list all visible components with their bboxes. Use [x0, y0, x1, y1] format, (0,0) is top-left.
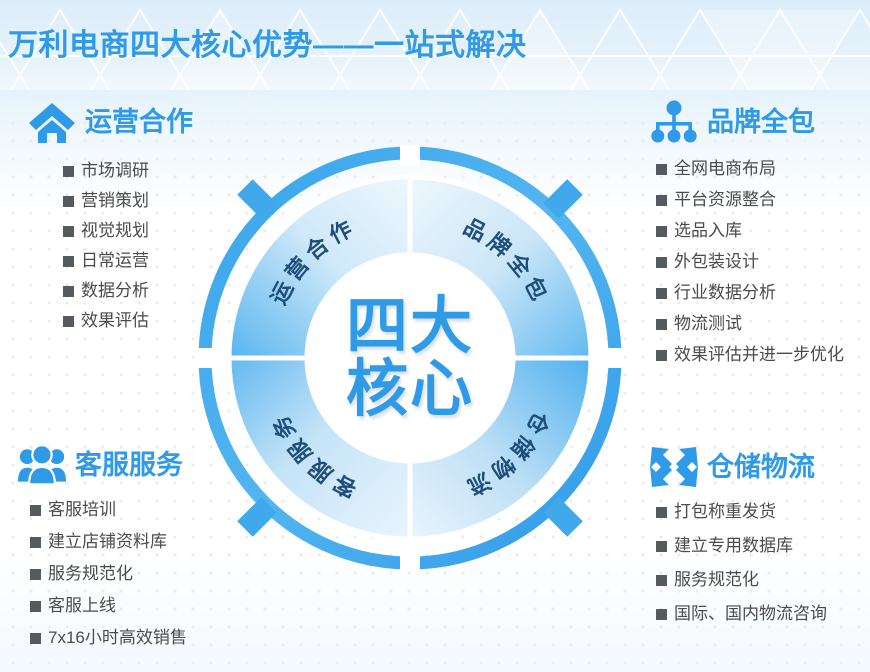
list-item-label: 日常运营 [81, 252, 149, 269]
bullet-icon [656, 164, 667, 175]
list-item-label: 数据分析 [81, 282, 149, 299]
core-donut-diagram: 运营合作 品牌全包 仓储物流 客服服务 四大 核心 [195, 143, 625, 573]
list-item: 物流测试 [656, 315, 844, 332]
quadrant-service-header: 客服服务 [18, 443, 187, 487]
people-group-icon [18, 443, 66, 487]
list-item-label: 国际、国内物流咨询 [674, 605, 827, 622]
org-chart-icon [650, 100, 698, 144]
list-item-label: 打包称重发货 [674, 503, 776, 520]
bullet-icon [63, 316, 74, 327]
quadrant-logistics-title: 仓储物流 [707, 454, 815, 481]
list-item: 平台资源整合 [656, 191, 844, 208]
infographic-canvas: 万利电商四大核心优势——一站式解决 [0, 0, 870, 672]
list-item-label: 市场调研 [81, 162, 149, 179]
list-item: 服务规范化 [30, 565, 187, 582]
bullet-icon [656, 350, 667, 361]
bullet-icon [656, 609, 667, 620]
list-item-label: 客服培训 [48, 501, 116, 518]
four-arrows-expand-icon [650, 445, 698, 489]
quadrant-operations-list: 市场调研 营销策划 视觉规划 日常运营 数据分析 效果评估 [63, 162, 193, 329]
list-item: 客服上线 [30, 597, 187, 614]
quadrant-service: 客服服务 客服培训 建立店铺资料库 服务规范化 客服上线 7x16小时高效销售 [18, 443, 187, 661]
quadrant-service-title: 客服服务 [75, 452, 183, 479]
list-item: 服务规范化 [656, 571, 827, 588]
list-item: 建立店铺资料库 [30, 533, 187, 550]
list-item-label: 全网电商布局 [674, 160, 776, 177]
quadrant-logistics-header: 仓储物流 [650, 445, 827, 489]
list-item: 日常运营 [63, 252, 193, 269]
bullet-icon [30, 505, 41, 516]
list-item: 效果评估并进一步优化 [656, 346, 844, 363]
bullet-icon [656, 575, 667, 586]
list-item: 7x16小时高效销售 [30, 629, 187, 646]
bullet-icon [656, 195, 667, 206]
list-item-label: 客服上线 [48, 597, 116, 614]
list-item: 国际、国内物流咨询 [656, 605, 827, 622]
list-item-label: 行业数据分析 [674, 284, 776, 301]
home-icon [28, 100, 76, 144]
quadrant-brand-title: 品牌全包 [707, 109, 815, 136]
list-item-label: 平台资源整合 [674, 191, 776, 208]
bullet-icon [656, 257, 667, 268]
quadrant-brand-list: 全网电商布局 平台资源整合 选品入库 外包装设计 行业数据分析 物流测试 效果评… [656, 160, 844, 363]
quadrant-operations-header: 运营合作 [28, 100, 193, 144]
list-item: 行业数据分析 [656, 284, 844, 301]
bullet-icon [63, 196, 74, 207]
list-item-label: 效果评估 [81, 312, 149, 329]
quadrant-logistics: 仓储物流 打包称重发货 建立专用数据库 服务规范化 国际、国内物流咨询 [650, 445, 827, 639]
bullet-icon [656, 319, 667, 330]
bullet-icon [656, 541, 667, 552]
bullet-icon [63, 166, 74, 177]
list-item-label: 7x16小时高效销售 [48, 629, 187, 646]
bullet-icon [63, 256, 74, 267]
list-item: 打包称重发货 [656, 503, 827, 520]
list-item-label: 营销策划 [81, 192, 149, 209]
list-item: 效果评估 [63, 312, 193, 329]
list-item-label: 效果评估并进一步优化 [674, 346, 844, 363]
list-item: 市场调研 [63, 162, 193, 179]
bullet-icon [656, 226, 667, 237]
list-item-label: 服务规范化 [674, 571, 759, 588]
bullet-icon [63, 226, 74, 237]
list-item: 外包装设计 [656, 253, 844, 270]
list-item: 营销策划 [63, 192, 193, 209]
bullet-icon [30, 569, 41, 580]
list-item: 客服培训 [30, 501, 187, 518]
list-item: 全网电商布局 [656, 160, 844, 177]
quadrant-logistics-list: 打包称重发货 建立专用数据库 服务规范化 国际、国内物流咨询 [656, 503, 827, 622]
list-item: 视觉规划 [63, 222, 193, 239]
list-item-label: 服务规范化 [48, 565, 133, 582]
quadrant-brand: 品牌全包 全网电商布局 平台资源整合 选品入库 外包装设计 行业数据分析 物流测… [650, 100, 844, 377]
quadrant-service-list: 客服培训 建立店铺资料库 服务规范化 客服上线 7x16小时高效销售 [30, 501, 187, 646]
bullet-icon [30, 601, 41, 612]
list-item-label: 选品入库 [674, 222, 742, 239]
list-item: 建立专用数据库 [656, 537, 827, 554]
bullet-icon [30, 537, 41, 548]
bullet-icon [30, 633, 41, 644]
quadrant-operations-title: 运营合作 [85, 109, 193, 136]
quadrant-brand-header: 品牌全包 [650, 100, 844, 144]
list-item: 数据分析 [63, 282, 193, 299]
list-item-label: 建立专用数据库 [674, 537, 793, 554]
list-item-label: 视觉规划 [81, 222, 149, 239]
page-title: 万利电商四大核心优势——一站式解决 [8, 20, 527, 64]
list-item: 选品入库 [656, 222, 844, 239]
list-item-label: 建立店铺资料库 [48, 533, 167, 550]
list-item-label: 外包装设计 [674, 253, 759, 270]
bullet-icon [656, 507, 667, 518]
quadrant-operations: 运营合作 市场调研 营销策划 视觉规划 日常运营 数据分析 效果评估 [28, 100, 193, 342]
list-item-label: 物流测试 [674, 315, 742, 332]
bullet-icon [63, 286, 74, 297]
donut-inner-disc [309, 257, 511, 459]
bullet-icon [656, 288, 667, 299]
